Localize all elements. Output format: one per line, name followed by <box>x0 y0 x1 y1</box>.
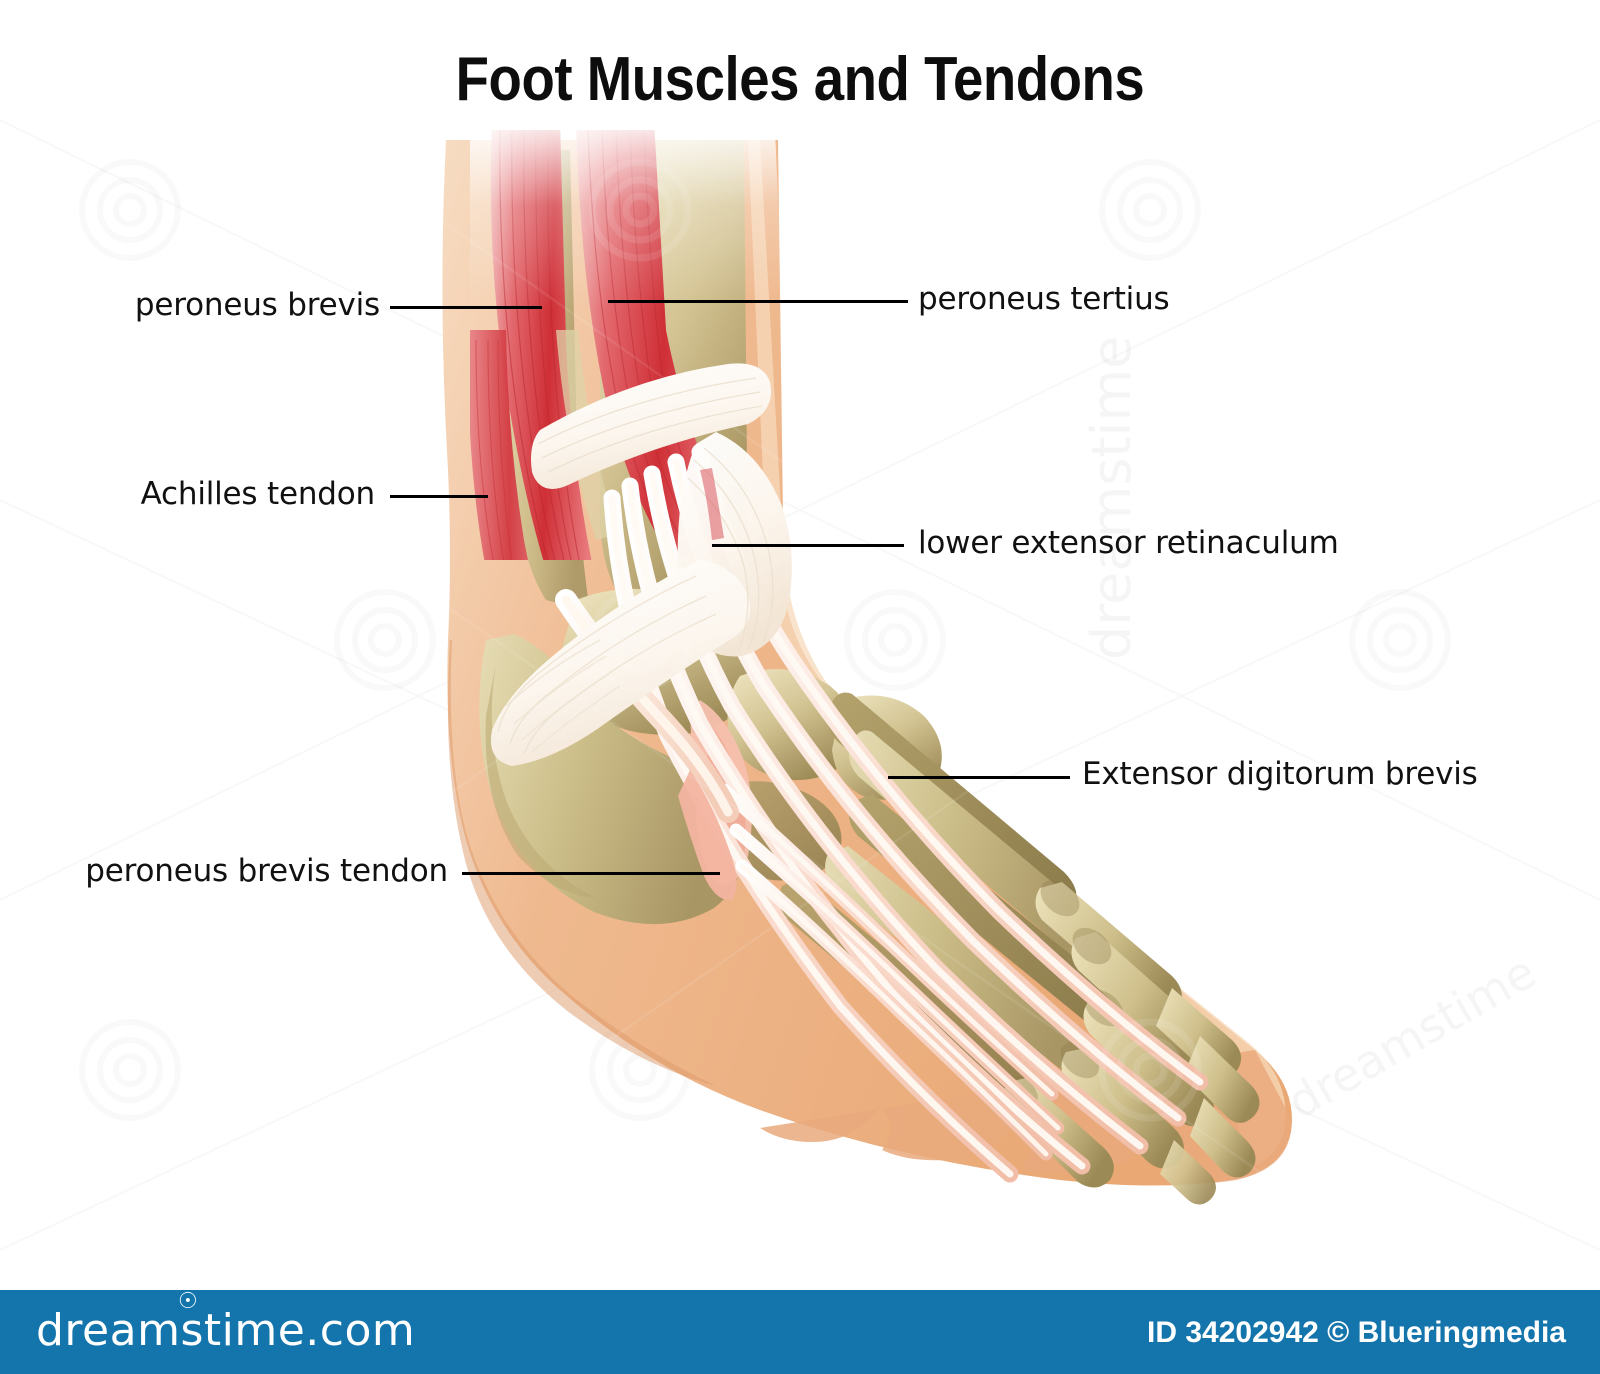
label-peroneus-brevis-tendon: peroneus brevis tendon <box>58 856 448 887</box>
leader-line-achilles-tendon <box>390 495 488 498</box>
foot-anatomy-illustration: dreamstime dreamstime <box>0 0 1600 1374</box>
label-lower-extensor-retinaculum: lower extensor retinaculum <box>918 528 1339 559</box>
label-peroneus-brevis: peroneus brevis <box>110 290 380 321</box>
label-extensor-digitorum-brevis: Extensor digitorum brevis <box>1082 759 1478 790</box>
dreamstime-logo[interactable]: dreamstime.com ☉ <box>36 1305 415 1356</box>
leader-line-peroneus-tertius <box>608 300 908 303</box>
diagram-canvas: Foot Muscles and Tendons <box>0 0 1600 1374</box>
image-credit: ID 34202942 © Blueringmedia <box>1147 1316 1566 1350</box>
leader-line-peroneus-brevis <box>390 306 542 309</box>
leader-line-lower-extensor-retinaculum <box>712 544 904 547</box>
leader-line-extensor-digitorum-brevis <box>888 776 1070 779</box>
svg-text:dreamstime: dreamstime <box>1279 945 1545 1130</box>
label-achilles-tendon: Achilles tendon <box>120 479 375 510</box>
svg-text:dreamstime: dreamstime <box>1080 336 1143 660</box>
label-peroneus-tertius: peroneus tertius <box>918 284 1170 315</box>
leader-line-peroneus-brevis-tendon <box>462 872 720 875</box>
footer-bar: dreamstime.com ☉ ID 34202942 © Blueringm… <box>0 1290 1600 1374</box>
dreamstime-logo-text: dreamstime.com <box>36 1305 415 1356</box>
spiral-icon: ☉ <box>178 1289 198 1314</box>
